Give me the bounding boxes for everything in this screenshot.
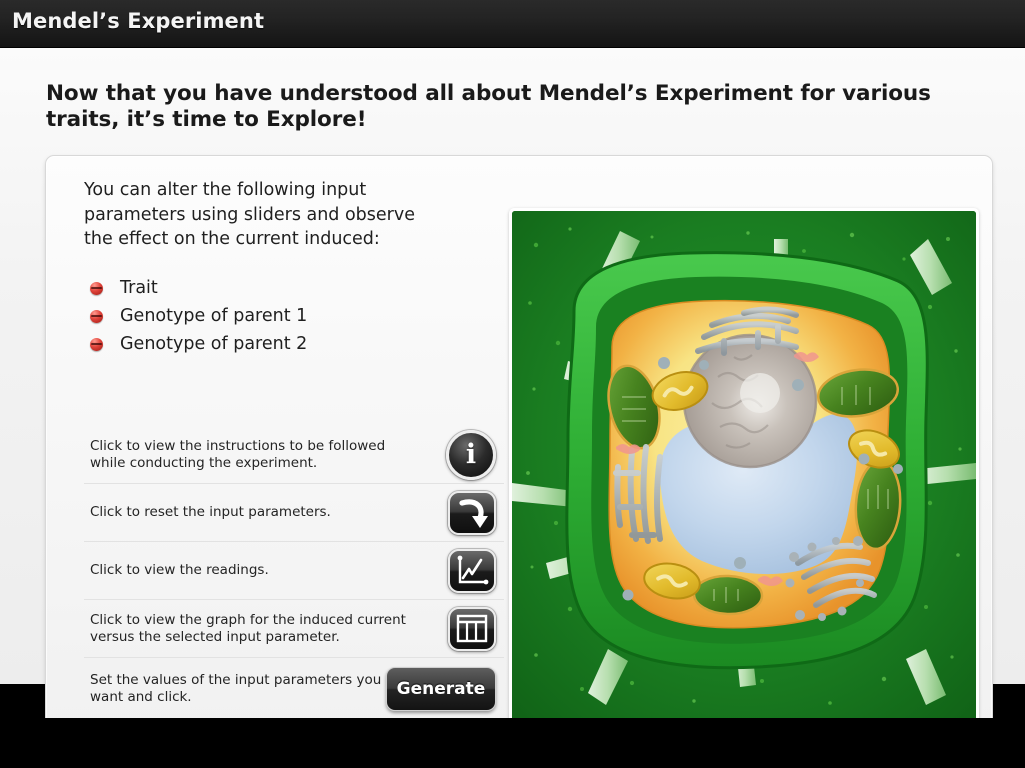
- info-icon-glyph: i: [449, 440, 493, 467]
- red-bullet-icon: [90, 310, 103, 323]
- line-chart-icon[interactable]: [448, 549, 496, 593]
- list-item: Genotype of parent 1: [84, 302, 504, 330]
- reset-button[interactable]: [448, 491, 496, 535]
- row-graph: Click to view the graph for the induced …: [84, 600, 504, 658]
- row-reset: Click to reset the input parameters.: [84, 484, 504, 542]
- plant-cell-svg: [512, 211, 976, 722]
- panel-intro-text: You can alter the following input parame…: [84, 178, 444, 252]
- page-title: Mendel’s Experiment: [12, 9, 264, 33]
- reset-arrow-icon[interactable]: [448, 491, 496, 535]
- list-item-label: Trait: [120, 278, 158, 298]
- title-bar: Mendel’s Experiment: [0, 0, 1025, 48]
- plant-cell-diagram: [512, 211, 976, 722]
- action-rows: Click to view the instructions to be fol…: [84, 426, 504, 720]
- row-label-generate: Set the values of the input parameters y…: [84, 672, 386, 706]
- bar-chart-glyph: [450, 609, 494, 649]
- readings-button[interactable]: [448, 549, 496, 593]
- content-card: You can alter the following input parame…: [45, 155, 993, 733]
- left-column: You can alter the following input parame…: [84, 178, 504, 358]
- row-generate: Set the values of the input parameters y…: [84, 658, 504, 720]
- footer-base: [0, 718, 1025, 768]
- intro-heading: Now that you have understood all about M…: [46, 81, 976, 133]
- parameter-list: Trait Genotype of parent 1 Genotype of p…: [84, 274, 504, 358]
- app-root: Mendel’s Experiment Now that you have un…: [0, 0, 1025, 768]
- row-instructions: Click to view the instructions to be fol…: [84, 426, 504, 484]
- row-label-instructions: Click to view the instructions to be fol…: [84, 438, 414, 472]
- nucleolus: [740, 373, 780, 413]
- row-readings: Click to view the readings.: [84, 542, 504, 600]
- generate-button[interactable]: Generate: [386, 667, 496, 711]
- info-icon[interactable]: i: [446, 430, 496, 480]
- graph-button[interactable]: [448, 607, 496, 651]
- list-item-label: Genotype of parent 2: [120, 334, 307, 354]
- illustration-panel: [509, 208, 979, 725]
- list-item-label: Genotype of parent 1: [120, 306, 307, 326]
- row-label-graph: Click to view the graph for the induced …: [84, 612, 414, 646]
- bar-chart-icon[interactable]: [448, 607, 496, 651]
- generate-button-wrap: Generate: [386, 667, 496, 711]
- row-label-readings: Click to view the readings.: [84, 562, 414, 579]
- red-bullet-icon: [90, 338, 103, 351]
- instructions-button[interactable]: i: [446, 430, 496, 480]
- page-body: Now that you have understood all about M…: [0, 48, 1025, 684]
- list-item: Genotype of parent 2: [84, 330, 504, 358]
- row-label-reset: Click to reset the input parameters.: [84, 504, 414, 521]
- red-bullet-icon: [90, 282, 103, 295]
- list-item: Trait: [84, 274, 504, 302]
- reset-arrow-glyph: [450, 493, 494, 533]
- line-chart-glyph: [450, 551, 494, 591]
